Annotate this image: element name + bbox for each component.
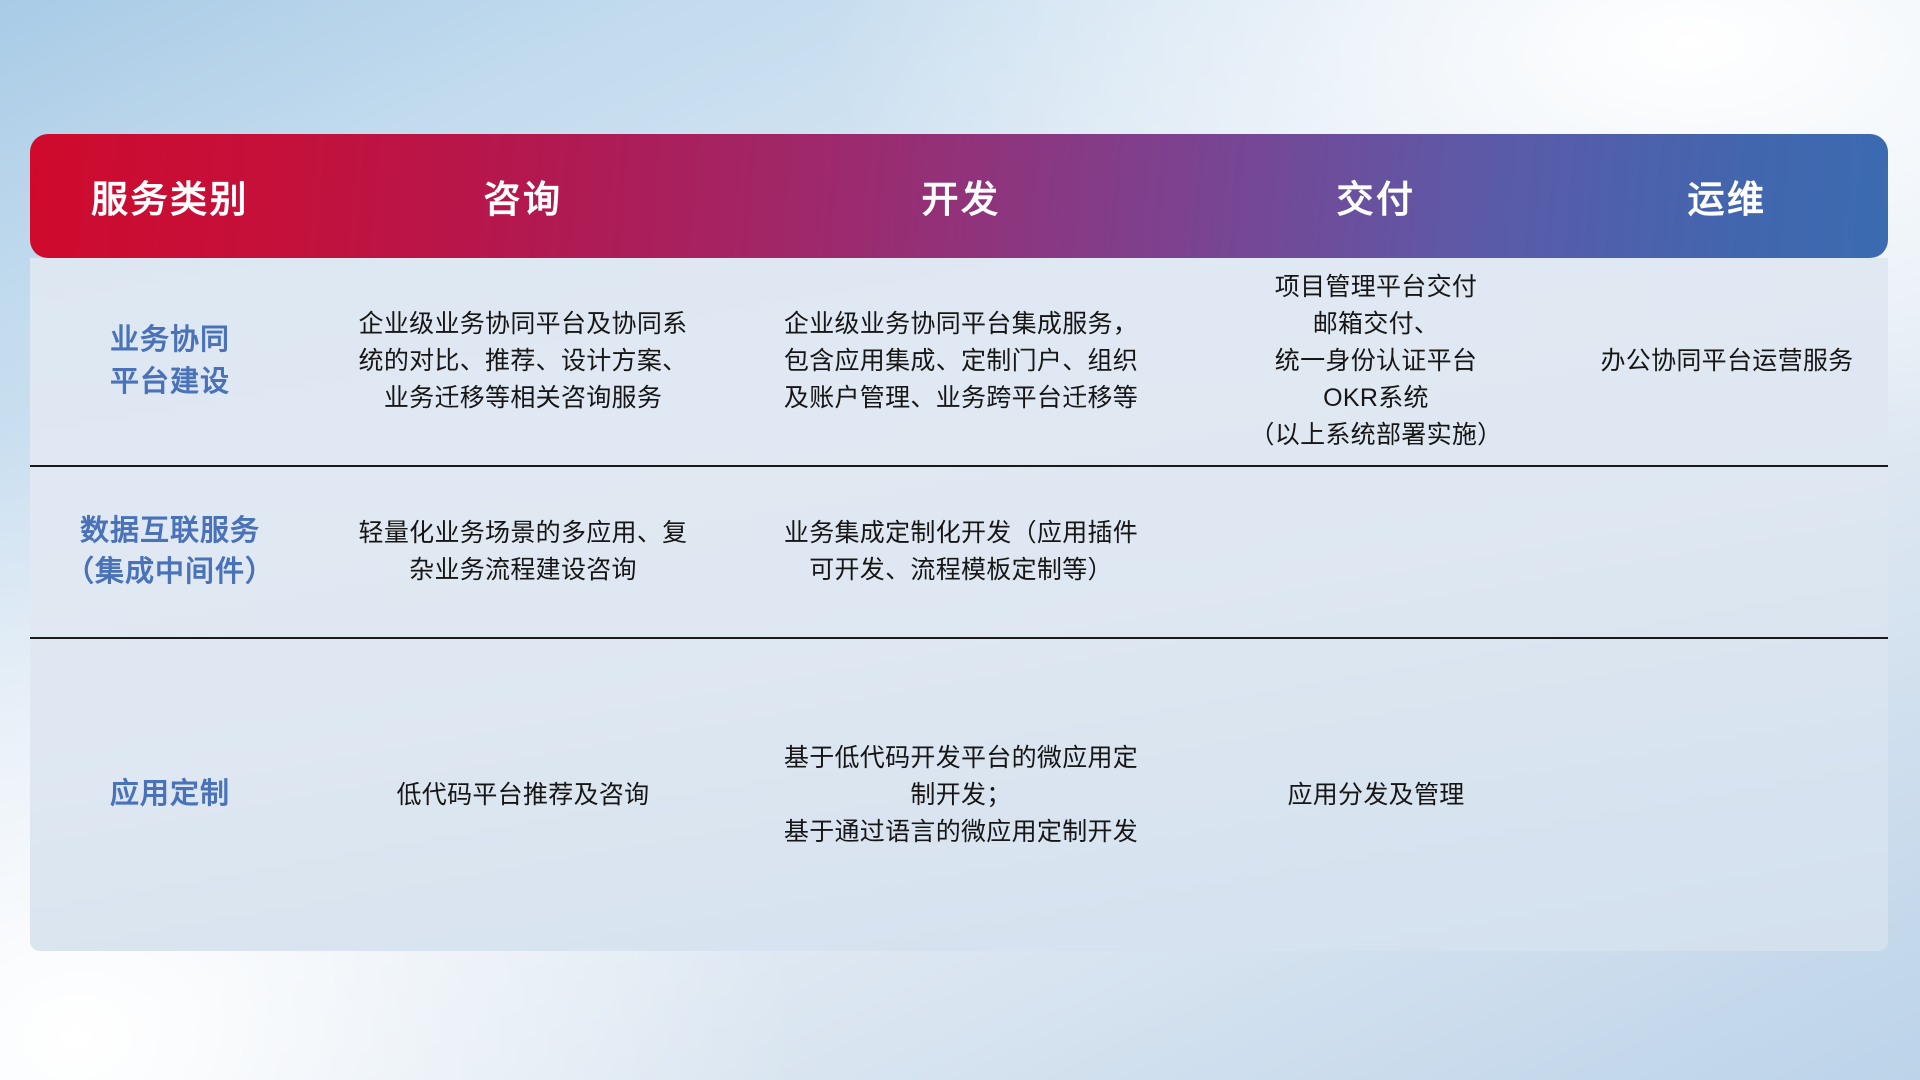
cell-delivery: 项目管理平台交付 邮箱交付、 统一身份认证平台 OKR系统 （以上系统部署实施） <box>1186 258 1566 466</box>
row-label-app-customization: 应用定制 <box>42 774 298 815</box>
cell-text: 基于低代码开发平台的微应用定 制开发； 基于通过语言的微应用定制开发 <box>748 740 1174 851</box>
cell-development: 企业级业务协同平台集成服务， 包含应用集成、定制门户、组织 及账户管理、业务跨平… <box>736 258 1186 466</box>
table-row: 业务协同 平台建设 企业级业务协同平台及协同系 统的对比、推荐、设计方案、 业务… <box>30 258 1888 466</box>
cell-delivery: 应用分发及管理 <box>1186 638 1566 951</box>
cell-consulting: 企业级业务协同平台及协同系 统的对比、推荐、设计方案、 业务迁移等相关咨询服务 <box>310 258 736 466</box>
row-label-cell: 应用定制 <box>30 638 310 951</box>
cell-text: 办公协同平台运营服务 <box>1578 343 1876 380</box>
page-root: 服务类别 咨询 开发 交付 运维 业务协同 平台建设 企业级业务协同平台及协同系… <box>0 0 1920 1080</box>
column-header-delivery: 交付 <box>1186 169 1566 223</box>
row-label-cell: 数据互联服务 （集成中间件） <box>30 466 310 638</box>
row-label-business-collaboration: 业务协同 平台建设 <box>42 320 298 402</box>
cell-development: 基于低代码开发平台的微应用定 制开发； 基于通过语言的微应用定制开发 <box>736 638 1186 951</box>
table-row: 应用定制 低代码平台推荐及咨询 基于低代码开发平台的微应用定 制开发； 基于通过… <box>30 638 1888 951</box>
cell-text: 企业级业务协同平台及协同系 统的对比、推荐、设计方案、 业务迁移等相关咨询服务 <box>322 306 724 417</box>
column-header-operations: 运维 <box>1566 169 1888 223</box>
cell-text: 低代码平台推荐及咨询 <box>322 777 724 814</box>
cell-operations: 办公协同平台运营服务 <box>1566 258 1888 466</box>
service-matrix-table: 业务协同 平台建设 企业级业务协同平台及协同系 统的对比、推荐、设计方案、 业务… <box>30 258 1888 951</box>
cell-text: 轻量化业务场景的多应用、复 杂业务流程建设咨询 <box>322 515 724 589</box>
table-row: 数据互联服务 （集成中间件） 轻量化业务场景的多应用、复 杂业务流程建设咨询 业… <box>30 466 1888 638</box>
column-header-development: 开发 <box>736 169 1186 223</box>
cell-consulting: 低代码平台推荐及咨询 <box>310 638 736 951</box>
cell-text: 应用分发及管理 <box>1198 777 1554 814</box>
cell-text: 项目管理平台交付 邮箱交付、 统一身份认证平台 OKR系统 （以上系统部署实施） <box>1198 269 1554 454</box>
cell-development: 业务集成定制化开发（应用插件 可开发、流程模板定制等） <box>736 466 1186 638</box>
table-header-row: 服务类别 咨询 开发 交付 运维 <box>30 134 1888 258</box>
cell-text: 企业级业务协同平台集成服务， 包含应用集成、定制门户、组织 及账户管理、业务跨平… <box>748 306 1174 417</box>
row-label-data-interconnect: 数据互联服务 （集成中间件） <box>42 511 298 593</box>
column-header-category: 服务类别 <box>30 169 310 223</box>
table-body: 业务协同 平台建设 企业级业务协同平台及协同系 统的对比、推荐、设计方案、 业务… <box>30 258 1888 951</box>
cell-consulting: 轻量化业务场景的多应用、复 杂业务流程建设咨询 <box>310 466 736 638</box>
cell-operations <box>1566 638 1888 951</box>
column-header-consulting: 咨询 <box>310 169 736 223</box>
cell-delivery <box>1186 466 1566 638</box>
cell-operations <box>1566 466 1888 638</box>
row-label-cell: 业务协同 平台建设 <box>30 258 310 466</box>
cell-text: 业务集成定制化开发（应用插件 可开发、流程模板定制等） <box>748 515 1174 589</box>
